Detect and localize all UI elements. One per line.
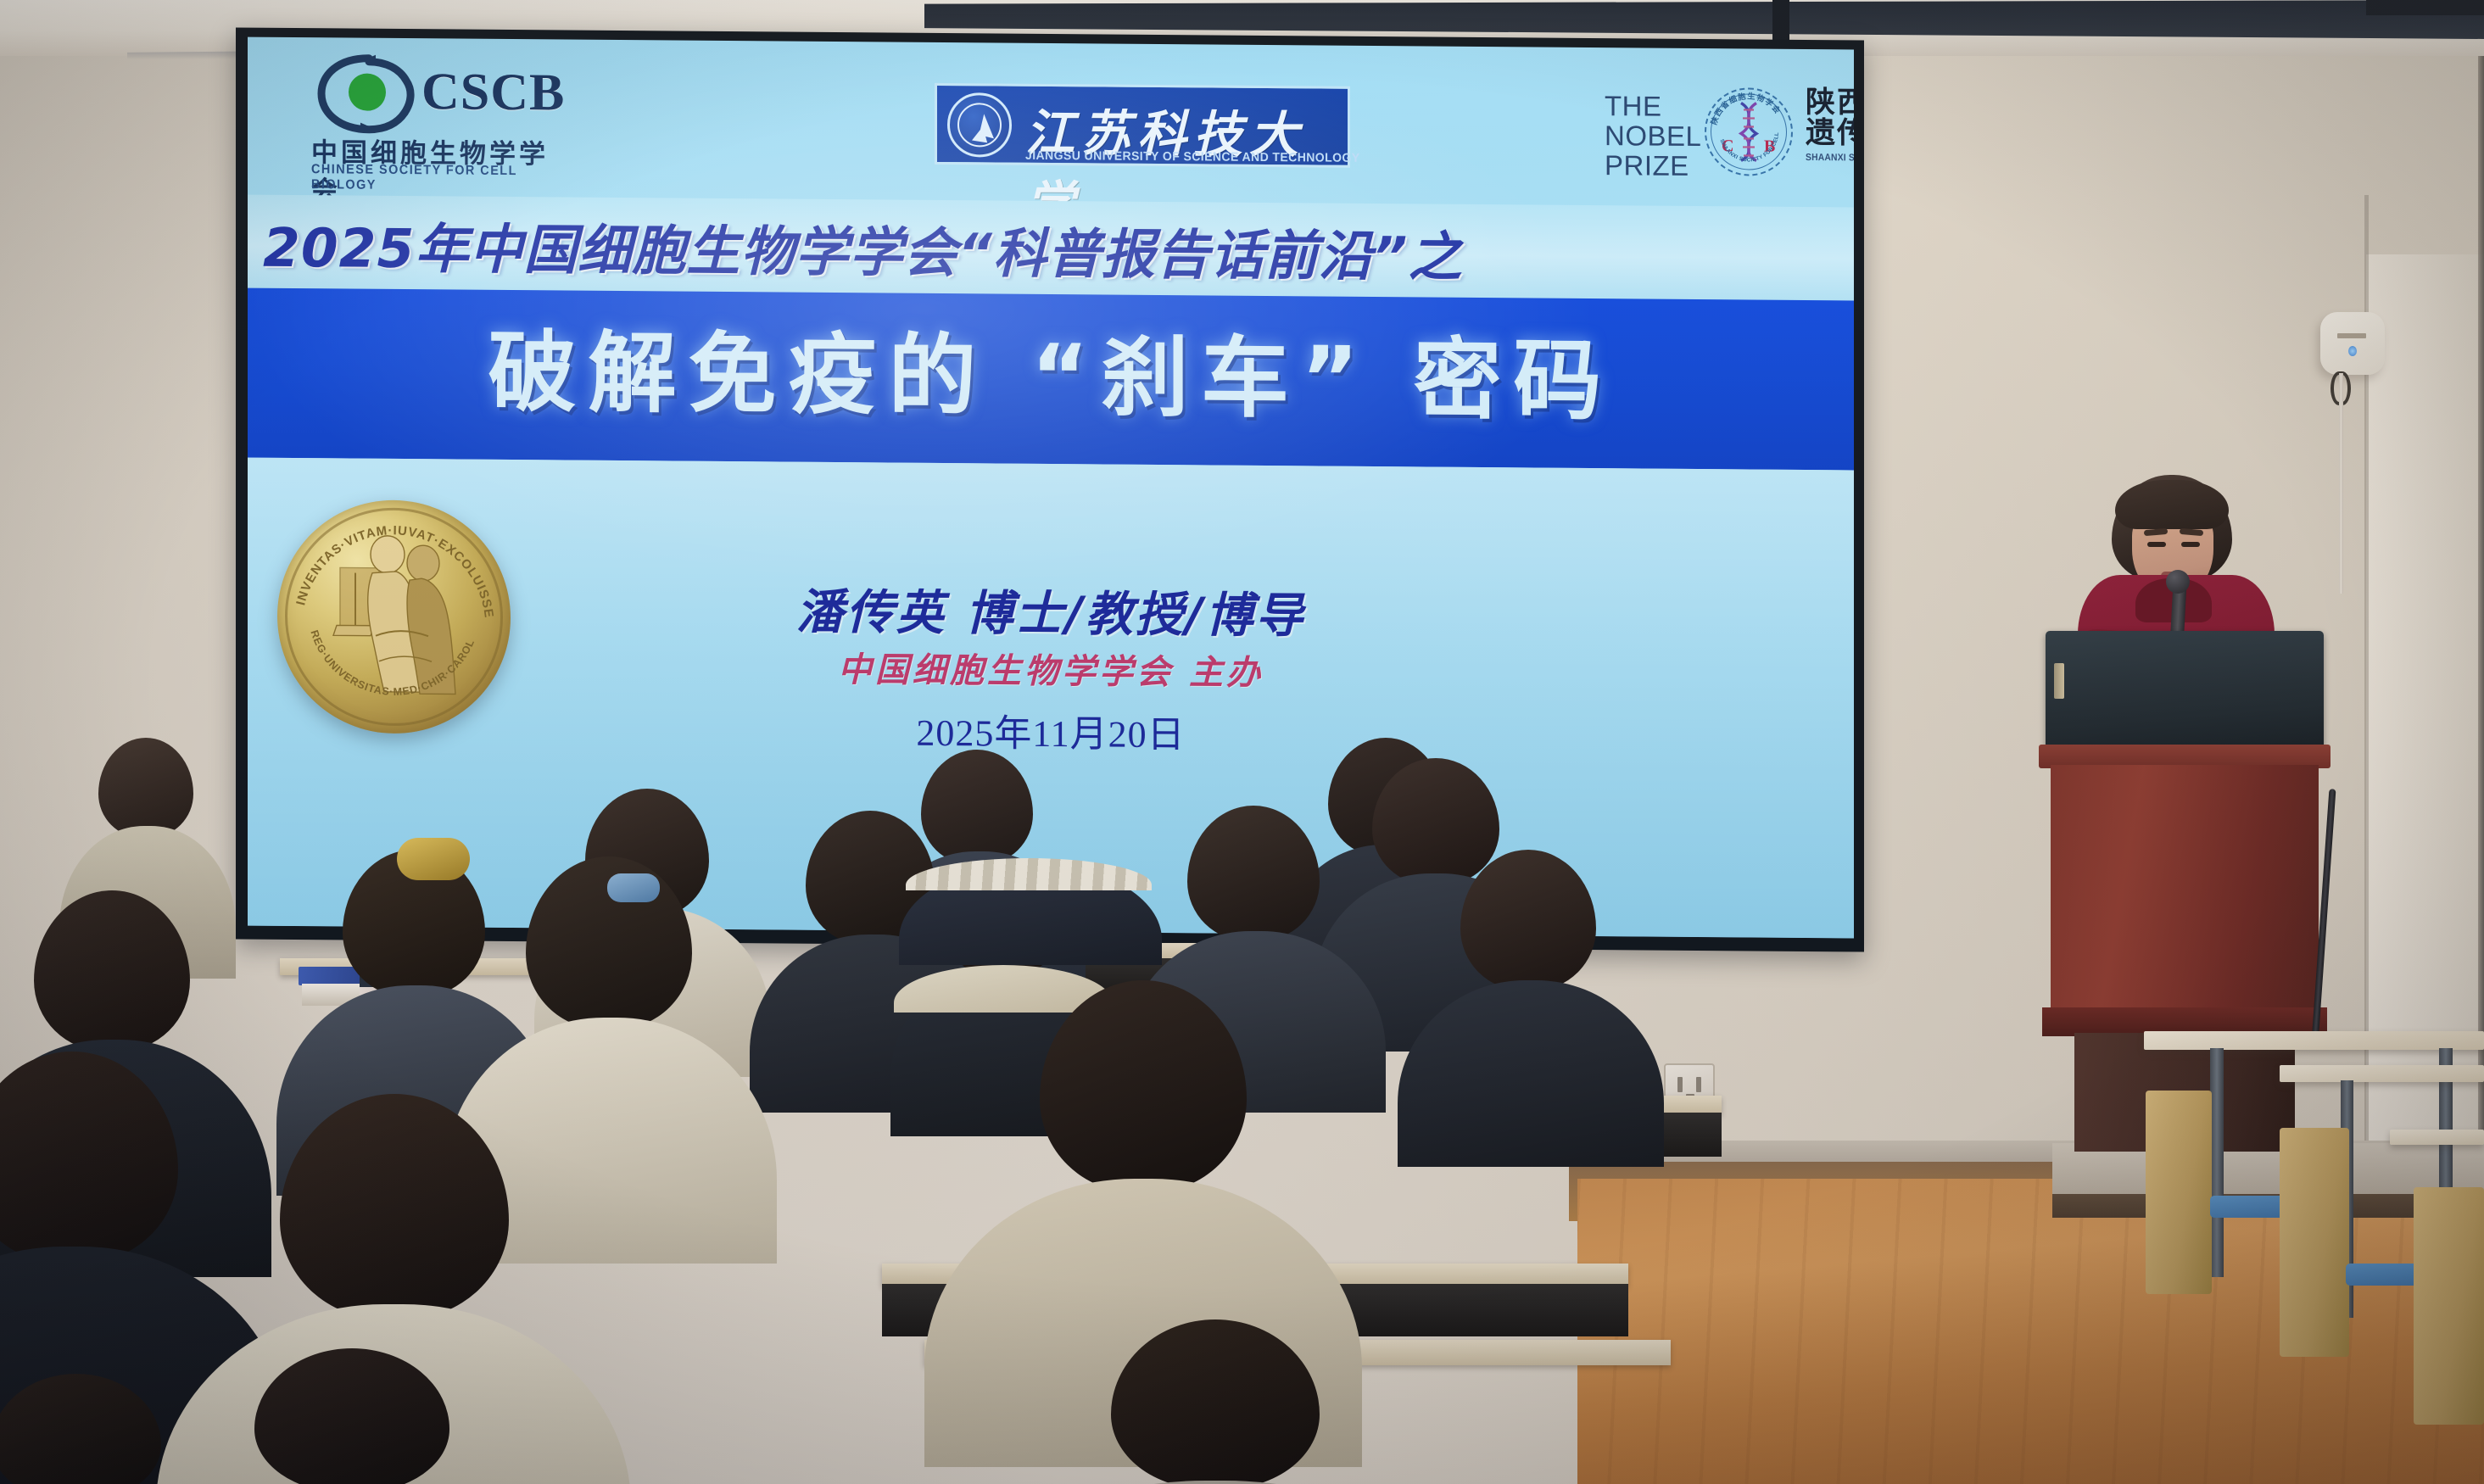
logo-nobel-line2: NOBEL: [1605, 121, 1701, 152]
cable-run: [2339, 373, 2343, 594]
microphone-capsule: [2166, 570, 2190, 594]
table-leg: [2210, 1048, 2224, 1277]
logo-shaanxi-genetics: 陕西省 遗传学会 SHAANXI SOCIETY OF GENETICS: [1806, 88, 1854, 184]
logo-csb-ring-text: 陕西省细胞生物学会 SHAANXI SOCIETY FOR CELL BIOLO…: [1705, 87, 1793, 176]
logo-sxg-line1: 陕西省: [1806, 88, 1854, 119]
logo-cscb: CSCB 中国细胞生物学学会 CHINESE SOCIETY FOR CELL …: [294, 53, 549, 181]
sail-icon: [972, 114, 994, 142]
device-label: [2337, 333, 2366, 338]
presenter-eye: [2147, 542, 2166, 547]
stacking-chair: [2280, 1128, 2349, 1357]
logo-jiangsu-university: 江苏科技大学 JIANGSU UNIVERSITY OF SCIENCE AND…: [935, 83, 1350, 168]
outlet-slot: [1677, 1077, 1683, 1092]
wifi-access-point: [2320, 312, 2385, 375]
logo-cscb-english: CHINESE SOCIETY FOR CELL BIOLOGY: [311, 162, 532, 194]
logo-sxg-line2: 遗传学会: [1806, 118, 1854, 150]
svg-text:陕西省细胞生物学会: 陕西省细胞生物学会: [1709, 91, 1783, 126]
logo-nobel-line3: PRIZE: [1605, 151, 1701, 181]
projected-slide: CSCB 中国细胞生物学学会 CHINESE SOCIETY FOR CELL …: [248, 37, 1854, 939]
side-table: [2144, 1031, 2484, 1050]
laptop-icon: [2046, 631, 2324, 748]
logo-jiangsu-english: JIANGSU UNIVERSITY OF SCIENCE AND TECHNO…: [1025, 149, 1360, 165]
slide-logo-bar: CSCB 中国细胞生物学学会 CHINESE SOCIETY FOR CELL …: [248, 37, 1854, 208]
side-table: [2280, 1065, 2484, 1082]
logo-cscb-acronym: CSCB: [421, 65, 565, 119]
lecture-hall-scene: CSCB 中国细胞生物学学会 CHINESE SOCIETY FOR CELL …: [0, 0, 2484, 1484]
logo-nobel-prize: THE NOBEL PRIZE: [1605, 92, 1701, 181]
side-table: [2390, 1130, 2484, 1145]
slide-title: 破解免疫的 “刹车” 密码: [248, 292, 1854, 462]
outlet-slot: [1696, 1077, 1701, 1092]
cell-nucleus-icon: [313, 53, 425, 135]
stacking-chair: [2414, 1187, 2484, 1425]
logo-nobel-line1: THE: [1605, 92, 1701, 122]
logo-shaanxi-cell-biology: C B 陕西省细胞生物学会 SHAANXI SOCIETY FOR CELL B…: [1705, 87, 1793, 176]
logo-sxg-english: SHAANXI SOCIETY OF GENETICS: [1806, 153, 1854, 164]
stacking-chair: [2146, 1091, 2212, 1294]
university-seal-icon: [947, 92, 1012, 158]
slide-subtitle: 2025年中国细胞生物学学会“科普报告话前沿”之: [263, 205, 1463, 292]
lectern-body: [2051, 765, 2319, 1011]
presenter-eye: [2181, 542, 2200, 547]
status-led-icon: [2348, 346, 2357, 356]
projector-mount: [1772, 0, 1789, 42]
presenter-fringe: [2115, 480, 2229, 529]
projection-screen-frame: CSCB 中国细胞生物学学会 CHINESE SOCIETY FOR CELL …: [236, 27, 1864, 951]
laptop-port: [2054, 663, 2064, 699]
ceiling-beam-end: [2366, 0, 2484, 15]
wall-panel-right: [2366, 254, 2484, 1272]
